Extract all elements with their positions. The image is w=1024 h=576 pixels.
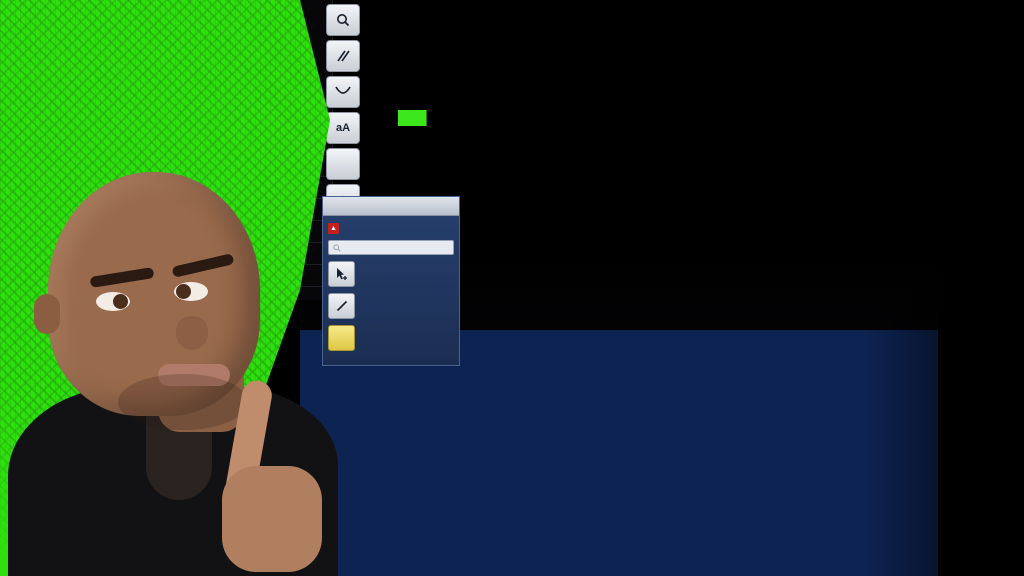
headline-line-2-wrap <box>398 104 1006 130</box>
iris-right <box>176 284 191 299</box>
candlestick-chart-bottom <box>300 330 1024 576</box>
thumbnail-canvas: 8 <box>0 0 1024 576</box>
iris-left <box>113 294 128 309</box>
headline <box>398 104 994 142</box>
curve-icon[interactable] <box>326 76 360 108</box>
right-watchlist-gutter[interactable] <box>938 0 1024 576</box>
fist <box>222 466 322 572</box>
search-icon[interactable] <box>326 4 360 36</box>
trendline-row[interactable] <box>328 293 459 319</box>
configuration-panel[interactable]: ▲ <box>322 196 460 366</box>
text-size-icon[interactable]: aA <box>326 112 360 144</box>
search-input[interactable] <box>328 240 454 255</box>
ear <box>34 294 60 334</box>
eye-left <box>96 292 130 311</box>
instrument-row[interactable] <box>328 261 459 287</box>
presenter-photo <box>8 168 338 576</box>
configuration-tree-item[interactable]: ▲ <box>323 219 459 237</box>
hand <box>204 380 322 570</box>
crv-row[interactable] <box>328 325 459 351</box>
parallel-lines-icon[interactable] <box>326 40 360 72</box>
configuration-title <box>323 197 459 216</box>
eye-right <box>174 282 208 301</box>
nose <box>176 316 208 350</box>
headline-highlight <box>398 110 427 126</box>
